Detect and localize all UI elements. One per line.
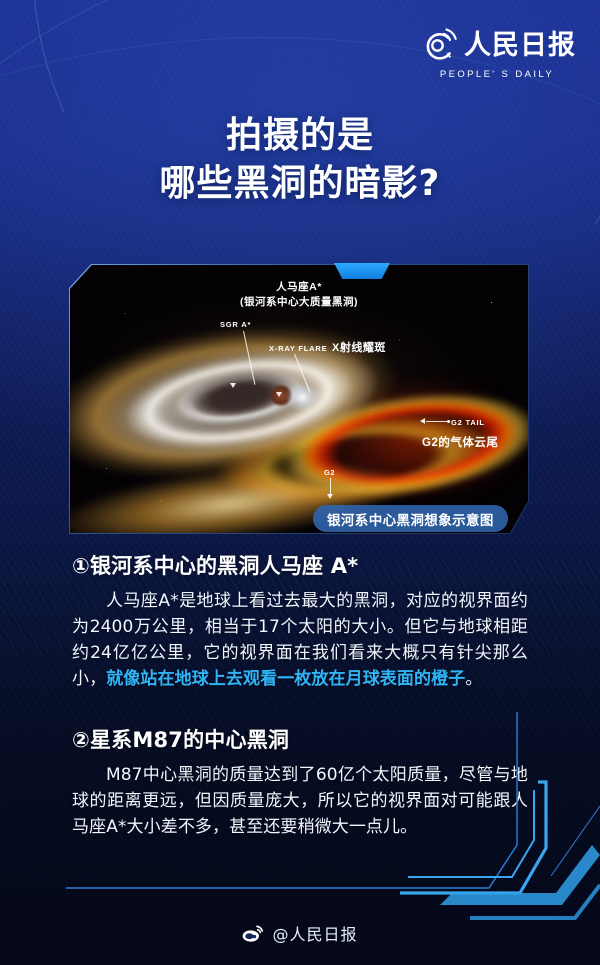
label-sgr-a-cn: 人马座A* xyxy=(276,279,322,294)
section-2-heading: ②星系M87的中心黑洞 xyxy=(72,726,528,755)
section-2-body: M87中心黑洞的质量达到了60亿个太阳质量，尽管与地球的距离更远，但因质量庞大，… xyxy=(72,762,528,840)
label-sgr-a-en: SGR A* xyxy=(220,320,251,329)
tab-marker-icon xyxy=(334,263,390,279)
figure-caption: 银河系中心黑洞想象示意图 xyxy=(313,505,508,532)
page-title: 拍摄的是 哪些黑洞的暗影? xyxy=(0,112,600,208)
weibo-icon xyxy=(242,925,264,942)
title-line-1: 拍摄的是 xyxy=(0,112,600,160)
footer-handle: @人民日报 xyxy=(272,921,357,945)
label-xray-flare-en: X-RAY FLARE xyxy=(269,344,327,353)
label-sgr-a-sub: (银河系中心大质量黑洞) xyxy=(240,294,358,309)
label-g2-tail-cn: G2的气体云尾 xyxy=(422,434,498,450)
leader-line xyxy=(426,421,448,422)
leader-dot xyxy=(447,420,450,423)
arrow-icon xyxy=(420,418,425,424)
brand-name-cn: 人民日报 xyxy=(464,32,576,59)
label-g2-tail-en: G2 TAIL xyxy=(451,418,485,427)
section-1-heading: ①银河系中心的黑洞人马座 A* xyxy=(72,552,528,581)
brand-logo: 人民日报 PEOPLE' S DAILY xyxy=(418,25,576,80)
arrow-icon xyxy=(230,383,236,388)
label-g2-en: G2 xyxy=(324,468,335,477)
xray-flare-glow xyxy=(285,383,319,412)
figure-image: 人马座A* (银河系中心大质量黑洞) SGR A* X-RAY FLARE X射… xyxy=(70,265,528,533)
section-1-body-highlight: 就像站在地球上去观看一枚放在月球表面的橙子 xyxy=(106,669,465,689)
section-1-body-post: 。 xyxy=(465,669,482,689)
section-2-body-pre: M87中心黑洞的质量达到了60亿个太阳质量，尽管与地球的距离更远，但因质量庞大，… xyxy=(72,765,528,837)
arrow-icon xyxy=(327,494,333,499)
section-1-body: 人马座A*是地球上看过去最大的黑洞，对应的视界面约为2400万公里，相当于17个… xyxy=(72,588,528,692)
section-m87: ②星系M87的中心黑洞 M87中心黑洞的质量达到了60亿个太阳质量，尽管与地球的… xyxy=(72,726,528,840)
at-sign-icon xyxy=(418,25,458,65)
blackhole-figure: 人马座A* (银河系中心大质量黑洞) SGR A* X-RAY FLARE X射… xyxy=(70,265,528,533)
label-xray-flare-cn: X射线耀斑 xyxy=(332,339,386,355)
footer-credit: @人民日报 xyxy=(0,921,600,945)
arrow-icon xyxy=(276,392,282,397)
title-line-2: 哪些黑洞的暗影? xyxy=(0,160,600,208)
section-sagittarius-a: ①银河系中心的黑洞人马座 A* 人马座A*是地球上看过去最大的黑洞，对应的视界面… xyxy=(72,552,528,692)
brand-name-en: PEOPLE' S DAILY xyxy=(440,69,554,80)
